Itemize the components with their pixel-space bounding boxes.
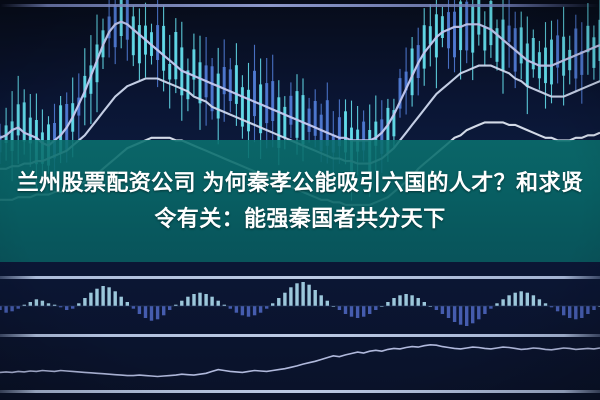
panel-divider-lower	[0, 390, 600, 393]
panel-divider-middle	[0, 334, 600, 337]
macd-histogram-series	[0, 282, 600, 326]
top-divider-rule	[0, 4, 600, 7]
panel-divider-upper	[0, 276, 600, 279]
trend-line	[0, 345, 600, 377]
headline-banner: 兰州股票配资公司 为何秦孝公能吸引六国的人才？和求贤令有关：能强秦国者共分天下	[0, 140, 600, 262]
banner-image-root: 兰州股票配资公司 为何秦孝公能吸引六国的人才？和求贤令有关：能强秦国者共分天下	[0, 0, 600, 400]
headline-text: 兰州股票配资公司 为何秦孝公能吸引六国的人才？和求贤令有关：能强秦国者共分天下	[15, 165, 585, 236]
